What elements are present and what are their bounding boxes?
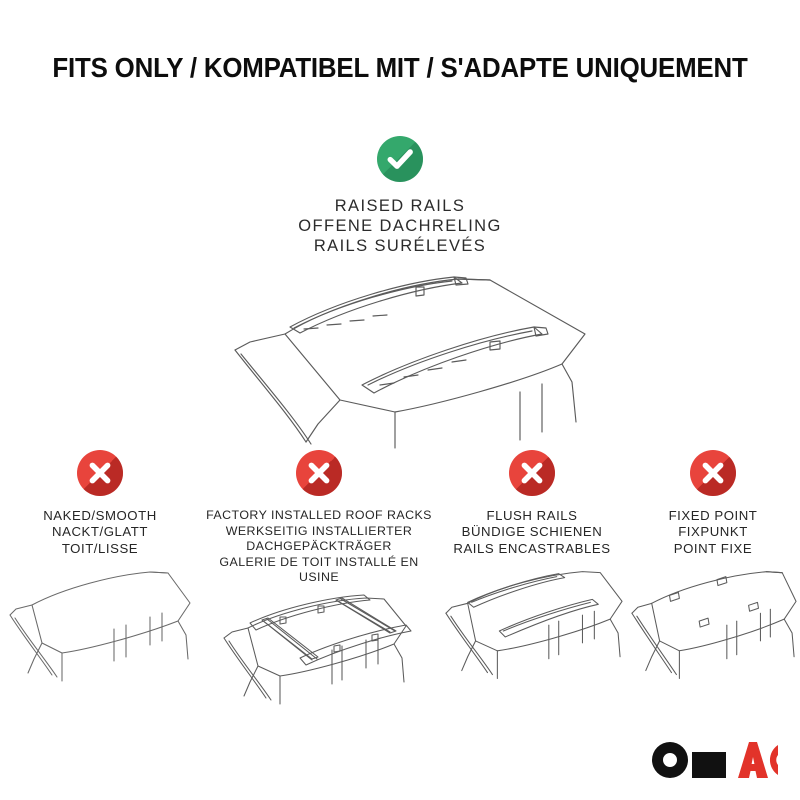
- label-en: FIXED POINT: [626, 508, 800, 524]
- label-en: NAKED/SMOOTH: [0, 508, 200, 524]
- label-de-2: DACHGEPÄCKTRÄGER: [200, 539, 438, 555]
- fitment-infographic: FITS ONLY / KOMPATIBEL MIT / S'ADAPTE UN…: [0, 0, 800, 800]
- incompatible-item-factory-roof-rack: FACTORY INSTALLED ROOF RACKS WERKSEITIG …: [200, 450, 438, 742]
- x-circle-icon: [690, 450, 736, 496]
- incompatible-labels: NAKED/SMOOTH NACKT/GLATT TOIT/LISSE: [0, 508, 200, 557]
- incompatible-labels: FIXED POINT FIXPUNKT POINT FIXE: [626, 508, 800, 557]
- label-de: FIXPUNKT: [626, 524, 800, 540]
- incompatible-labels: FACTORY INSTALLED ROOF RACKS WERKSEITIG …: [200, 508, 438, 586]
- compatible-labels: RAISED RAILS OFFENE DACHRELING RAILS SUR…: [0, 196, 800, 256]
- car-roof-flush-rails-illustration: [438, 563, 626, 713]
- label-en: FLUSH RAILS: [438, 508, 626, 524]
- incompatible-item-fixed-point: FIXED POINT FIXPUNKT POINT FIXE: [626, 450, 800, 713]
- incompatible-item-flush-rails: FLUSH RAILS BÜNDIGE SCHIENEN RAILS ENCAS…: [438, 450, 626, 713]
- incompatible-item-naked-smooth: NAKED/SMOOTH NACKT/GLATT TOIT/LISSE: [0, 450, 200, 713]
- page-title: FITS ONLY / KOMPATIBEL MIT / S'ADAPTE UN…: [24, 52, 776, 84]
- compatible-section: RAISED RAILS OFFENE DACHRELING RAILS SUR…: [0, 136, 800, 256]
- car-roof-naked-smooth-illustration: [0, 563, 200, 713]
- car-roof-fixed-point-illustration: [626, 563, 800, 713]
- compatible-label-fr: RAILS SURÉLEVÉS: [0, 236, 800, 256]
- logo-letter-a: [738, 742, 768, 778]
- omac-logo: OMAC: [650, 738, 778, 784]
- x-circle-icon: [296, 450, 342, 496]
- incompatible-labels: FLUSH RAILS BÜNDIGE SCHIENEN RAILS ENCAS…: [438, 508, 626, 557]
- compatible-label-de: OFFENE DACHRELING: [0, 216, 800, 236]
- car-roof-raised-rails-illustration: [190, 272, 620, 457]
- label-en: FACTORY INSTALLED ROOF RACKS: [200, 508, 438, 524]
- label-de: NACKT/GLATT: [0, 524, 200, 540]
- label-fr: GALERIE DE TOIT INSTALLÉ EN USINE: [200, 555, 438, 586]
- x-circle-icon: [509, 450, 555, 496]
- label-de: WERKSEITIG INSTALLIERTER: [200, 524, 438, 540]
- incompatible-section: NAKED/SMOOTH NACKT/GLATT TOIT/LISSE: [0, 450, 800, 742]
- car-roof-factory-roof-rack-illustration: [200, 592, 438, 742]
- label-de: BÜNDIGE SCHIENEN: [438, 524, 626, 540]
- compatible-label-en: RAISED RAILS: [0, 196, 800, 216]
- label-fr: TOIT/LISSE: [0, 541, 200, 557]
- header: FITS ONLY / KOMPATIBEL MIT / S'ADAPTE UN…: [0, 52, 800, 84]
- logo-letter-c: [770, 745, 778, 775]
- label-fr: POINT FIXE: [626, 541, 800, 557]
- x-circle-icon: [77, 450, 123, 496]
- label-fr: RAILS ENCASTRABLES: [438, 541, 626, 557]
- logo-letter-o: [652, 742, 688, 778]
- check-circle-icon: [377, 136, 423, 182]
